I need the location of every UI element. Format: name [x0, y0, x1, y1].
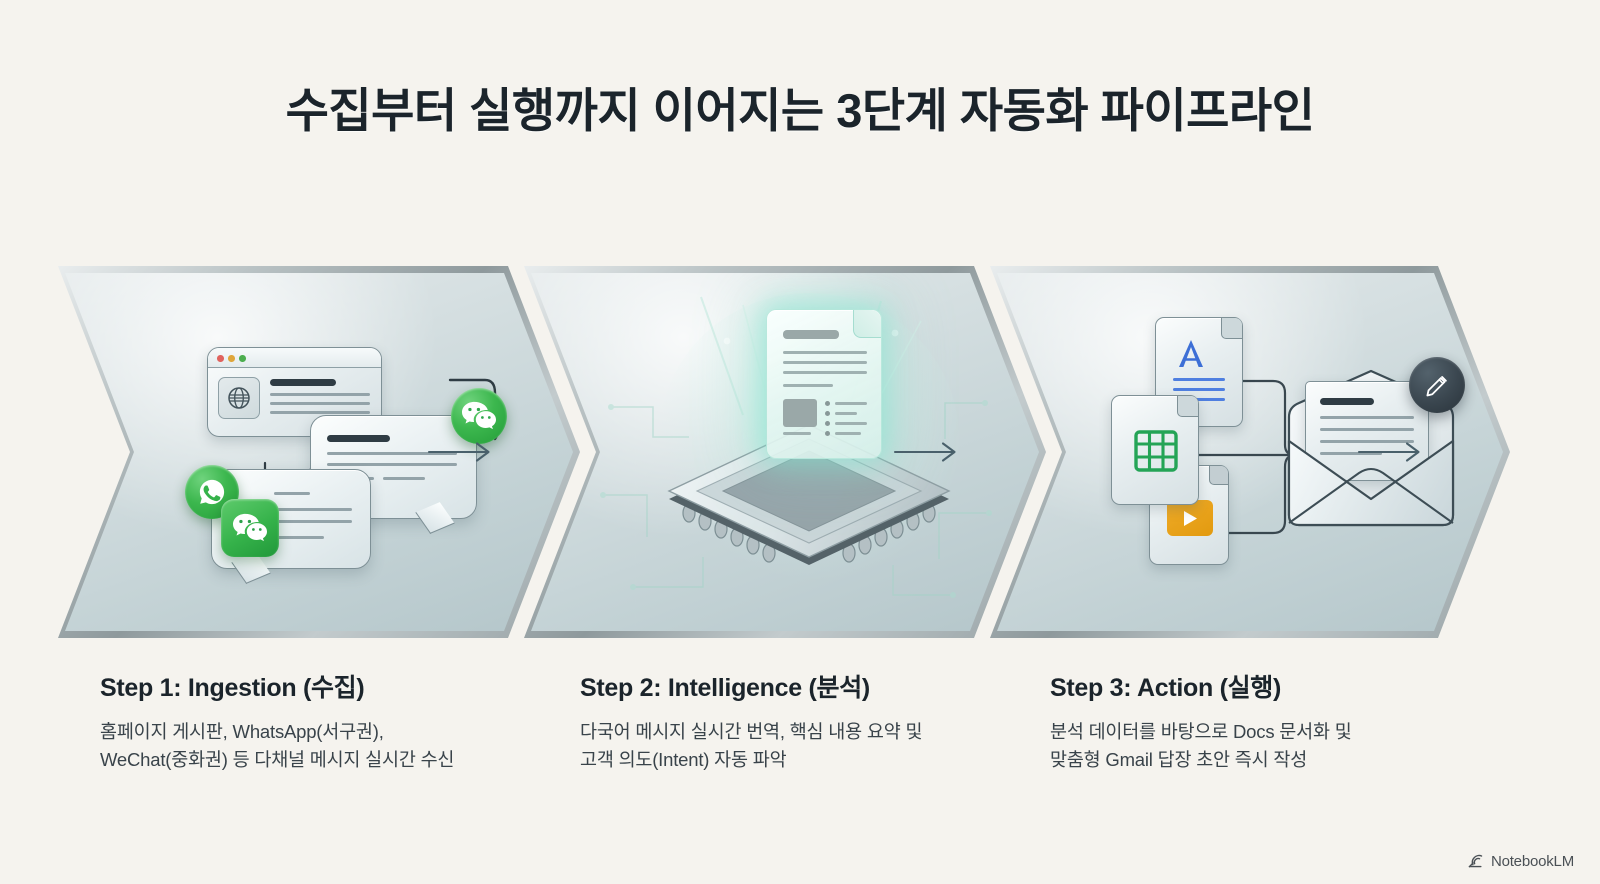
- step-2-desc-line-2: 고객 의도(Intent) 자동 파악: [580, 746, 1030, 774]
- wechat-circle-icon: [451, 388, 507, 444]
- step-2-description: 다국어 메시지 실시간 번역, 핵심 내용 요약 및 고객 의도(Intent)…: [580, 718, 1030, 774]
- step-panel-intelligence[interactable]: [524, 266, 1046, 638]
- notebooklm-brand-label: NotebookLM: [1491, 853, 1574, 870]
- step-3-desc-line-2: 맞춤형 Gmail 답장 초안 즉시 작성: [1050, 746, 1490, 774]
- notebooklm-logo-icon: [1467, 853, 1484, 870]
- step-1-desc-line-1: 홈페이지 게시판, WhatsApp(서구권),: [100, 718, 560, 746]
- ingestion-illustration: [65, 273, 573, 631]
- step-1-desc-line-2: WeChat(중화권) 등 다채널 메시지 실시간 수신: [100, 746, 560, 774]
- step-panel-intelligence-surface: [531, 273, 1039, 631]
- google-sheets-icon: [1111, 395, 1199, 505]
- caption-step-2: Step 2: Intelligence (분석) 다국어 메시지 실시간 번역…: [580, 668, 1030, 774]
- step-captions: Step 1: Ingestion (수집) 홈페이지 게시판, WhatsAp…: [0, 668, 1600, 798]
- step-panel-ingestion[interactable]: [58, 266, 580, 638]
- step-3-title: Step 3: Action (실행): [1050, 668, 1490, 704]
- pipeline-diagram: [58, 266, 1510, 638]
- step-2-title: Step 2: Intelligence (분석): [580, 668, 1030, 704]
- caption-step-3: Step 3: Action (실행) 분석 데이터를 바탕으로 Docs 문서…: [1050, 668, 1490, 774]
- window-close-dot: [217, 355, 224, 362]
- step-3-desc-line-1: 분석 데이터를 바탕으로 Docs 문서화 및: [1050, 718, 1490, 746]
- window-minimize-dot: [228, 355, 235, 362]
- pencil-edit-icon: [1409, 357, 1465, 413]
- step-panel-ingestion-surface: [65, 273, 573, 631]
- page-title: 수집부터 실행까지 이어지는 3단계 자동화 파이프라인: [0, 72, 1600, 141]
- action-illustration: [997, 273, 1503, 631]
- step-panel-action[interactable]: [990, 266, 1510, 638]
- notebooklm-footer: NotebookLM: [1467, 853, 1574, 870]
- caption-step-1: Step 1: Ingestion (수집) 홈페이지 게시판, WhatsAp…: [100, 668, 560, 774]
- step-panel-action-surface: [997, 273, 1503, 631]
- step-1-title: Step 1: Ingestion (수집): [100, 668, 560, 704]
- document-hologram-icon: [766, 309, 882, 459]
- step-2-desc-line-1: 다국어 메시지 실시간 번역, 핵심 내용 요약 및: [580, 718, 1030, 746]
- globe-icon: [218, 377, 260, 419]
- step-3-description: 분석 데이터를 바탕으로 Docs 문서화 및 맞춤형 Gmail 답장 초안 …: [1050, 718, 1490, 774]
- wechat-icon: [221, 499, 279, 557]
- intelligence-illustration: [531, 273, 1039, 631]
- step-1-description: 홈페이지 게시판, WhatsApp(서구권), WeChat(중화권) 등 다…: [100, 718, 560, 774]
- window-maximize-dot: [239, 355, 246, 362]
